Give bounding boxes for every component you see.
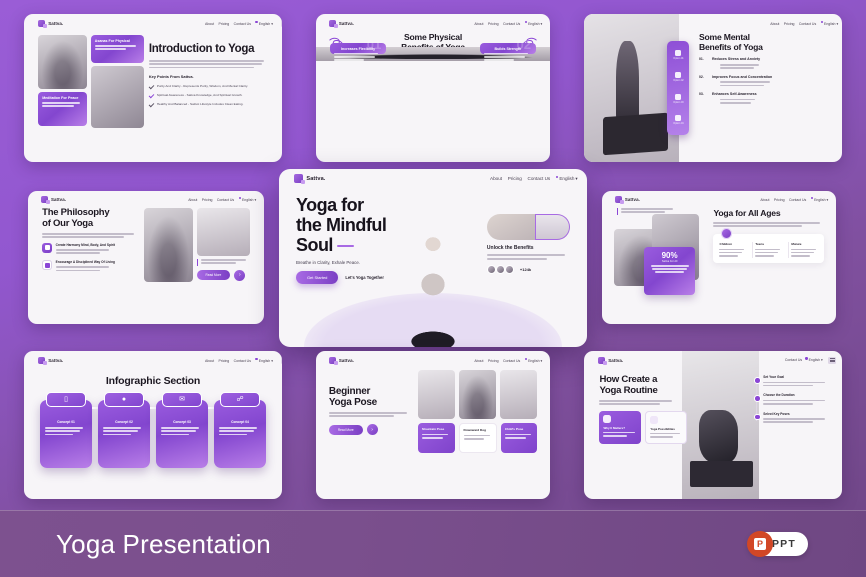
benefit-text — [712, 99, 757, 104]
keypoint-label: Purity And Clarity - Represents Purity, … — [157, 84, 248, 88]
nav-links: About Pricing Contact Us English▾ — [205, 20, 268, 27]
logo-mark-icon — [38, 20, 45, 27]
nav-link-pricing[interactable]: Pricing — [219, 22, 230, 26]
option-label: Option 04 — [673, 122, 683, 125]
age-title: Children — [719, 242, 746, 246]
ppt-format-badge: PPT — [748, 532, 808, 556]
ppt-label: PPT — [772, 538, 796, 550]
slide-title-line3: Soul — [296, 235, 411, 255]
concept-label: Concept 01 — [45, 420, 87, 424]
info-card-why-it-matters[interactable]: Why It Matters? — [599, 411, 641, 444]
option-sidebar[interactable]: Option 01 Option 02 Option 03 Option 04 — [667, 41, 689, 136]
nav-link-contact[interactable]: Contact Us — [503, 359, 520, 363]
ring-icon — [721, 228, 732, 239]
benefit-number: 01. — [699, 57, 707, 70]
benefit-text — [712, 64, 760, 69]
slide-title-line2: Yoga Pose — [329, 397, 412, 408]
pose-icon — [650, 416, 658, 424]
slide-mindful-soul[interactable]: Sattva. About Pricing Contact Us English… — [279, 169, 587, 347]
brand-logo[interactable]: Sattva. — [329, 20, 354, 27]
timeline-step-poses: Select Key Poses — [763, 412, 829, 423]
feature-title: Encourage A Disciplined Way Of Living — [56, 260, 115, 264]
footer-bar: Yoga Presentation PPT — [0, 510, 866, 577]
get-started-button[interactable]: Get Started — [296, 271, 338, 284]
chevron-down-icon: ▾ — [827, 198, 829, 202]
photo-aerial-yoga — [91, 66, 144, 128]
read-more-button[interactable]: Read More — [329, 425, 363, 435]
overlay-card-asanas[interactable]: Asanas For Physical — [91, 35, 144, 63]
language-selector[interactable]: English▾ — [255, 358, 273, 363]
language-label: English — [259, 359, 270, 363]
feature-item-harmony: Create Harmony Mind, Body, And Spirit — [42, 243, 138, 255]
logo-mark-icon — [329, 20, 336, 27]
benefit-number: 03. — [699, 92, 707, 105]
slide-body-text — [149, 60, 268, 68]
brand-name: Sattva. — [51, 197, 66, 202]
pose-card-downward-dog[interactable]: Downward Dog — [459, 423, 497, 453]
card-photo — [487, 214, 570, 240]
pose-cards: Mountain Pose Downward Dog Child's Pose — [418, 423, 537, 453]
option-item-02[interactable]: Option 02 — [673, 72, 683, 82]
brand-name: Sattva. — [306, 176, 325, 182]
pose-icon — [42, 260, 52, 270]
timeline-step-goal: Set Your Goal — [763, 375, 829, 386]
concept-card-04[interactable]: ☍ Concept 04 — [214, 400, 266, 468]
chevron-down-icon: ▾ — [541, 22, 543, 26]
info-card-yoga-possibilities[interactable]: Yoga Possibilities — [645, 411, 687, 444]
envelope-icon: ✉ — [162, 392, 202, 407]
slide-nav: Sattva. About Pricing Contact Us English… — [602, 191, 836, 208]
concept-row: ▯ Concept 01 ● Concept 02 ✉ Concept 03 ☍… — [24, 400, 282, 468]
slide-yoga-for-all-ages[interactable]: Sattva. About Pricing Contact Us English… — [602, 191, 836, 324]
avatar — [487, 265, 496, 274]
presentation-title: Yoga Presentation — [56, 529, 271, 560]
brand-logo[interactable]: Sattva. — [41, 196, 66, 203]
concept-label: Concept 02 — [103, 420, 145, 424]
nav-link-contact[interactable]: Contact Us — [799, 22, 816, 26]
language-label: English — [809, 358, 820, 362]
photo-inversion-pose — [38, 35, 87, 89]
age-column-children: Children — [717, 242, 748, 258]
language-label: English — [559, 176, 574, 181]
chevron-down-icon: ▾ — [836, 22, 838, 26]
document-icon: ▯ — [46, 392, 86, 407]
arrow-right-icon[interactable]: › — [367, 424, 378, 435]
language-label: English — [528, 22, 539, 26]
info-card-title: Why It Matters? — [603, 426, 637, 430]
pose-title: Mountain Pose — [422, 427, 450, 431]
stat-value: 90% — [648, 251, 691, 260]
meditation-icon — [603, 415, 611, 423]
age-title: Mature — [791, 242, 818, 246]
language-selector[interactable]: English▾ — [821, 21, 839, 26]
photo-warrior-pose — [459, 370, 496, 419]
nav-link-about[interactable]: About — [188, 198, 197, 202]
option-label: Option 03 — [673, 101, 683, 104]
slide-title-word: Soul — [296, 235, 333, 255]
language-label: English — [242, 198, 253, 202]
slide-title-line2: of Our Yoga — [42, 219, 138, 229]
benefit-title: Enhances Self-Awareness — [712, 92, 757, 96]
slide-nav: Sattva. Contact Us English▾ — [584, 351, 842, 369]
photo-standing-pose — [500, 370, 537, 419]
brand-name: Sattva. — [48, 21, 63, 26]
nav-link-pricing[interactable]: Pricing — [508, 176, 522, 181]
brand-name: Sattva. — [48, 358, 63, 363]
lightbulb-icon: ● — [104, 392, 144, 407]
nav-link-about[interactable]: About — [474, 359, 483, 363]
chevron-down-icon: ▾ — [254, 198, 256, 202]
card-title: Unlock the Benefits — [487, 245, 570, 251]
photo-gallery: Meditation For Peace Asanas For Physical — [38, 35, 144, 128]
nav-link-contact[interactable]: Contact Us — [217, 198, 234, 202]
link-icon: ☍ — [220, 392, 260, 407]
arrow-right-icon[interactable]: › — [234, 270, 245, 281]
meditation-icon — [675, 72, 681, 78]
slide-title: Infographic Section — [24, 375, 282, 387]
hamburger-menu-icon[interactable] — [828, 357, 836, 364]
brand-name: Sattva. — [625, 197, 640, 202]
stat-label: Sattva For All — [648, 260, 691, 263]
nav-links: About Pricing Contact Us English▾ — [770, 20, 833, 27]
nav-link-pricing[interactable]: Pricing — [202, 198, 213, 202]
brand-logo[interactable]: Sattva. — [294, 174, 325, 183]
keypoint-item: Healthy And Balanced - Sattvic Lifestyle… — [149, 101, 268, 106]
benefit-item: 03. Enhances Self-Awareness — [699, 92, 831, 105]
keypoints-title: Key Points From Sattva. — [149, 74, 268, 79]
slide-title: Introduction to Yoga — [149, 43, 268, 55]
nav-link-about[interactable]: About — [490, 176, 502, 181]
benefit-card-strength[interactable]: Builds Strength 02 — [480, 43, 536, 54]
language-selector[interactable]: English▾ — [255, 21, 273, 26]
timeline-step-duration: Choose the Duration — [763, 393, 829, 404]
avatar — [496, 265, 505, 274]
powerpoint-icon — [747, 531, 773, 557]
check-icon — [149, 83, 154, 88]
slide-infographic-section[interactable]: Sattva. About Pricing Contact Us English… — [24, 351, 282, 499]
benefit-card-number: 02 — [517, 37, 531, 52]
slide-nav: Sattva. About Pricing Contact Us English… — [24, 14, 282, 33]
language-selector[interactable]: English▾ — [811, 197, 829, 202]
brand-logo[interactable]: Sattva. — [38, 20, 63, 27]
nav-link-contact[interactable]: Contact Us — [503, 22, 520, 26]
option-label: Option 02 — [673, 79, 683, 82]
nav-link-pricing[interactable]: Pricing — [488, 359, 499, 363]
slide-title-line2: Benefits of Yoga — [699, 43, 831, 53]
language-selector[interactable]: English▾ — [525, 21, 543, 26]
benefit-item: 01. Reduces Stress and Anxiety — [699, 57, 831, 70]
benefit-number: 02. — [699, 75, 707, 88]
quote-block — [197, 259, 250, 265]
nav-links: About Pricing Contact Us English▾ — [474, 20, 537, 27]
slide-lead-text — [42, 233, 138, 238]
language-selector[interactable]: English▾ — [525, 358, 543, 363]
nav-link-contact[interactable]: Contact Us — [789, 198, 806, 202]
step-title: Set Your Goal — [763, 375, 829, 379]
title-dash-icon — [337, 245, 354, 248]
slide-title: Yoga for All Ages — [713, 208, 824, 218]
concept-label: Concept 03 — [161, 420, 203, 424]
read-more-button[interactable]: Read More — [197, 270, 231, 280]
nav-link-pricing[interactable]: Pricing — [784, 22, 795, 26]
slide-title-line1: How Create a — [599, 375, 687, 386]
benefit-title: Improves Focus and Concentration — [712, 75, 772, 79]
slide-nav: Sattva. About Pricing Contact Us English… — [316, 14, 550, 33]
concept-card-01[interactable]: ▯ Concept 01 — [40, 400, 92, 468]
step-title: Select Key Poses — [763, 412, 829, 416]
brand-logo[interactable]: Sattva. — [329, 357, 354, 364]
heart-icon — [675, 94, 681, 100]
nav-links: Contact Us English▾ — [785, 357, 828, 364]
keypoint-item: Spiritual Awareness - Sattva Knowledge, … — [149, 92, 268, 97]
nav-link-about[interactable]: About — [205, 22, 214, 26]
benefit-card-number: 01 — [367, 37, 381, 52]
slide-beginner-yoga-pose[interactable]: Sattva. About Pricing Contact Us English… — [316, 351, 550, 499]
chevron-down-icon: ▾ — [575, 176, 577, 182]
hamburger-menu-icon[interactable] — [281, 357, 282, 364]
slide-introduction-to-yoga[interactable]: Sattva. About Pricing Contact Us English… — [24, 14, 282, 162]
routine-timeline: Set Your Goal Choose the Duration Select… — [754, 375, 829, 423]
step-title: Choose the Duration — [763, 393, 829, 397]
book-icon — [675, 115, 681, 121]
nav-link-pricing[interactable]: Pricing — [488, 22, 499, 26]
member-count: +124k — [520, 267, 531, 272]
benefit-card-flexibility[interactable]: Increases Flexibility 01 — [330, 43, 386, 54]
brand-name: Sattva. — [339, 358, 354, 363]
slide-title-line2: Yoga Routine — [599, 386, 687, 397]
keypoint-item: Purity And Clarity - Represents Purity, … — [149, 83, 268, 88]
slide-title-line1: Beginner — [329, 386, 412, 397]
brand-name: Sattva. — [339, 21, 354, 26]
language-selector[interactable]: English▾ — [239, 197, 257, 202]
slide-nav: About Pricing Contact Us English▾ — [679, 14, 842, 33]
chevron-down-icon: ▾ — [271, 22, 273, 26]
slide-philosophy[interactable]: Sattva. About Pricing Contact Us English… — [28, 191, 264, 324]
slide-physical-benefits[interactable]: Sattva. About Pricing Contact Us English… — [316, 14, 550, 162]
pose-photos — [418, 370, 537, 419]
language-selector[interactable]: English▾ — [805, 357, 823, 362]
info-card-title: Yoga Possibilities — [650, 427, 682, 431]
slide-title-line1: Yoga for — [296, 195, 411, 215]
photo-wide-legged-fold — [418, 370, 455, 419]
feature-item-discipline: Encourage A Disciplined Way Of Living — [42, 260, 138, 272]
slide-grid: Sattva. About Pricing Contact Us English… — [0, 0, 866, 510]
language-label: English — [528, 359, 539, 363]
lets-yoga-together-link[interactable]: Let's Yoga Together — [345, 275, 384, 280]
brand-logo[interactable]: Sattva. — [598, 357, 623, 364]
nav-links: About Pricing Contact Us English▾ — [205, 357, 268, 364]
concept-card-03[interactable]: ✉ Concept 03 — [156, 400, 208, 468]
photo-downward-dog — [197, 208, 250, 256]
pose-title: Downward Dog — [464, 428, 492, 432]
nav-links: About Pricing Contact Us English▾ — [490, 174, 572, 183]
brand-logo[interactable]: Sattva. — [615, 196, 640, 203]
slide-lead-text — [713, 222, 824, 227]
nav-link-about[interactable]: About — [760, 198, 769, 202]
age-column-teens: Teens — [752, 242, 784, 258]
nav-links: About Pricing Contact Us English▾ — [188, 196, 251, 203]
logo-mark-icon — [38, 357, 45, 364]
logo-mark-icon — [294, 174, 303, 183]
slide-nav: Sattva. About Pricing Contact Us English… — [316, 351, 550, 370]
chevron-down-icon: ▾ — [271, 359, 273, 363]
logo-mark-icon — [329, 357, 336, 364]
feature-title: Create Harmony Mind, Body, And Spirit — [56, 243, 115, 247]
option-item-03[interactable]: Option 03 — [673, 94, 683, 104]
overlay-card-meditation[interactable]: Meditation For Peace — [38, 92, 87, 126]
nav-link-about[interactable]: About — [770, 22, 779, 26]
nav-links: About Pricing Contact Us English▾ — [760, 196, 823, 203]
nav-link-about[interactable]: About — [205, 359, 214, 363]
benefit-title: Reduces Stress and Anxiety — [712, 57, 760, 61]
benefit-item: 02. Improves Focus and Concentration — [699, 75, 831, 88]
language-selector[interactable]: English▾ — [556, 176, 578, 182]
slide-nav: Sattva. About Pricing Contact Us English… — [279, 169, 587, 189]
slide-nav: Sattva. About Pricing Contact Us English… — [24, 351, 282, 370]
option-label: Option 01 — [673, 57, 683, 60]
nav-link-contact[interactable]: Contact Us — [785, 358, 802, 362]
check-icon — [149, 101, 154, 106]
option-item-04[interactable]: Option 04 — [673, 115, 683, 125]
nav-link-contact[interactable]: Contact Us — [528, 176, 551, 181]
logo-mark-icon — [598, 357, 605, 364]
pose-card-mountain[interactable]: Mountain Pose — [418, 423, 454, 453]
avatar — [505, 265, 514, 274]
age-columns: Children Teens Mature — [713, 234, 824, 263]
photo-forward-fold — [144, 208, 193, 282]
unlock-benefits-card[interactable]: Unlock the Benefits +124k — [487, 214, 570, 274]
meditation-icon — [42, 243, 52, 253]
option-item-01[interactable]: Option 01 — [673, 50, 683, 60]
nav-link-contact[interactable]: Contact Us — [234, 22, 251, 26]
language-label: English — [259, 22, 270, 26]
overlay-card-title: Asanas For Physical — [95, 39, 140, 43]
language-label: English — [824, 22, 835, 26]
language-label: English — [814, 198, 825, 202]
photo-crescent-lunge — [584, 14, 679, 162]
keypoint-label: Spiritual Awareness - Sattva Knowledge, … — [157, 93, 243, 97]
slide-title-line2: the Mindful — [296, 215, 411, 235]
check-icon — [149, 92, 154, 97]
pose-title: Child's Pose — [505, 427, 533, 431]
slide-lead-text — [599, 400, 674, 405]
brand-name: Sattva. — [608, 358, 623, 363]
slide-lead-text — [329, 412, 412, 417]
slide-nav: Sattva. About Pricing Contact Us English… — [28, 191, 264, 208]
avatar-group: +124k — [487, 265, 570, 274]
nav-link-about[interactable]: About — [474, 22, 483, 26]
slide-create-yoga-routine[interactable]: Sattva. Contact Us English▾ How Create a… — [584, 351, 842, 499]
card-text — [487, 254, 570, 260]
nav-link-pricing[interactable]: Pricing — [219, 359, 230, 363]
hamburger-menu-icon[interactable] — [281, 20, 282, 27]
stat-card[interactable]: 90% Sattva For All — [644, 247, 695, 295]
nav-links: About Pricing Contact Us English▾ — [474, 357, 537, 364]
keypoint-label: Healthy And Balanced - Sattvic Lifestyle… — [157, 102, 244, 106]
nav-link-contact[interactable]: Contact Us — [234, 359, 251, 363]
age-column-mature: Mature — [788, 242, 820, 258]
pose-card-childs-pose[interactable]: Child's Pose — [501, 423, 537, 453]
slide-tagline: Breathe in Clarity, Exhale Peace. — [296, 260, 411, 265]
lotus-icon — [675, 50, 681, 56]
age-title: Teens — [755, 242, 782, 246]
presentation-preview: Sattva. About Pricing Contact Us English… — [0, 0, 866, 577]
brand-logo[interactable]: Sattva. — [38, 357, 63, 364]
overlay-card-title: Meditation For Peace — [42, 96, 83, 100]
logo-mark-icon — [615, 196, 622, 203]
nav-link-pricing[interactable]: Pricing — [774, 198, 785, 202]
chevron-down-icon: ▾ — [541, 359, 543, 363]
benefit-text — [712, 81, 772, 86]
logo-mark-icon — [41, 196, 48, 203]
concept-card-02[interactable]: ● Concept 02 — [98, 400, 150, 468]
concept-label: Concept 04 — [219, 420, 261, 424]
chevron-down-icon: ▾ — [821, 358, 823, 362]
slide-mental-benefits[interactable]: About Pricing Contact Us English▾ Option… — [584, 14, 842, 162]
